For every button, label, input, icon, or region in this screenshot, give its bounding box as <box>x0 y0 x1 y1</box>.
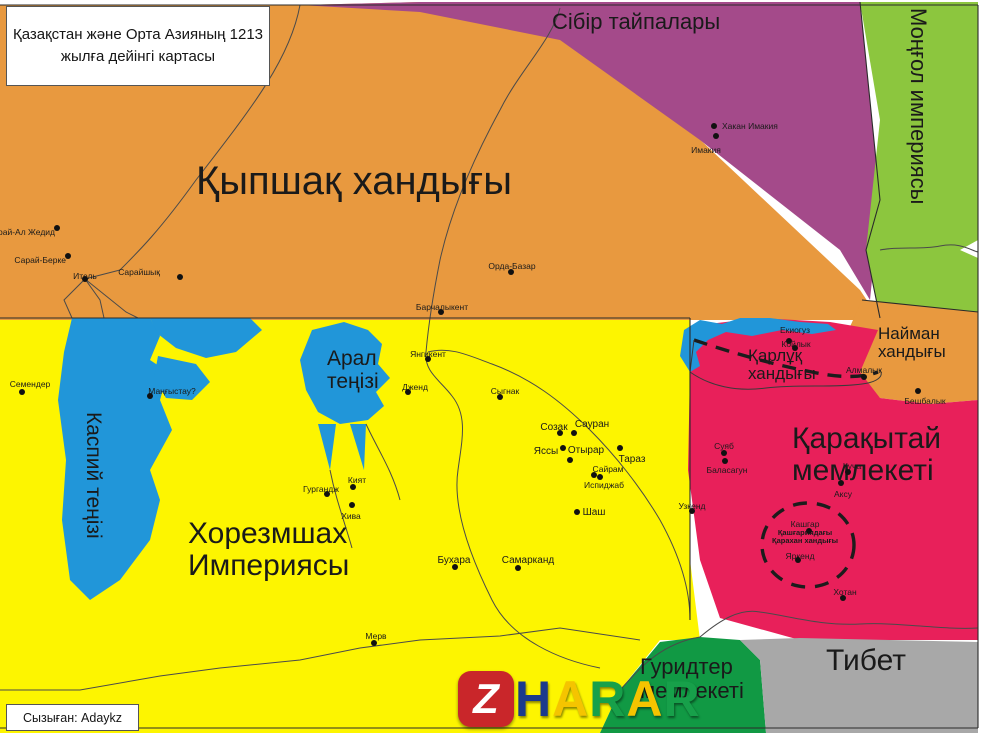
city-dot-icon <box>571 430 577 436</box>
city-dot-icon <box>177 274 183 280</box>
city-dot-icon <box>82 276 88 282</box>
map-title: Қазақстан және Орта Азияның 1213 жылға д… <box>7 24 269 68</box>
historical-map: Қазақстан және Орта Азияның 1213 жылға д… <box>0 0 1000 733</box>
city-dot-icon <box>452 564 458 570</box>
map-title-box: Қазақстан және Орта Азияның 1213 жылға д… <box>6 6 270 86</box>
map-credit: Сызыған: Adaykz <box>23 711 122 725</box>
city-dot-icon <box>508 269 514 275</box>
city-dot-icon <box>567 457 573 463</box>
city-dot-icon <box>19 389 25 395</box>
city-dot-icon <box>574 509 580 515</box>
city-dot-icon <box>560 445 566 451</box>
city-dot-icon <box>147 393 153 399</box>
map-canvas <box>0 0 1000 733</box>
city-dot-icon <box>617 445 623 451</box>
city-dot-icon <box>786 338 792 344</box>
city-dot-icon <box>557 430 563 436</box>
city-dot-icon <box>597 474 603 480</box>
city-dot-icon <box>838 480 844 486</box>
city-dot-icon <box>845 469 851 475</box>
city-dot-icon <box>840 595 846 601</box>
city-dot-icon <box>324 491 330 497</box>
city-dot-icon <box>438 309 444 315</box>
city-dot-icon <box>349 502 355 508</box>
city-dot-icon <box>795 557 801 563</box>
map-credit-box: Сызыған: Adaykz <box>6 704 139 731</box>
city-dot-icon <box>721 450 727 456</box>
city-dot-icon <box>425 356 431 362</box>
city-dot-icon <box>497 394 503 400</box>
city-dot-icon <box>405 389 411 395</box>
city-dot-icon <box>722 458 728 464</box>
city-dot-icon <box>711 123 717 129</box>
city-dot-icon <box>515 565 521 571</box>
city-dot-icon <box>689 508 695 514</box>
city-dot-icon <box>350 484 356 490</box>
city-dot-icon <box>65 253 71 259</box>
city-dot-icon <box>861 374 867 380</box>
city-dot-icon <box>792 345 798 351</box>
city-dot-icon <box>371 640 377 646</box>
city-dot-icon <box>806 528 812 534</box>
city-dot-icon <box>915 388 921 394</box>
region-shape-tibet <box>740 638 978 733</box>
city-dot-icon <box>54 225 60 231</box>
city-dot-icon <box>713 133 719 139</box>
region-shape-mongol <box>860 2 978 318</box>
